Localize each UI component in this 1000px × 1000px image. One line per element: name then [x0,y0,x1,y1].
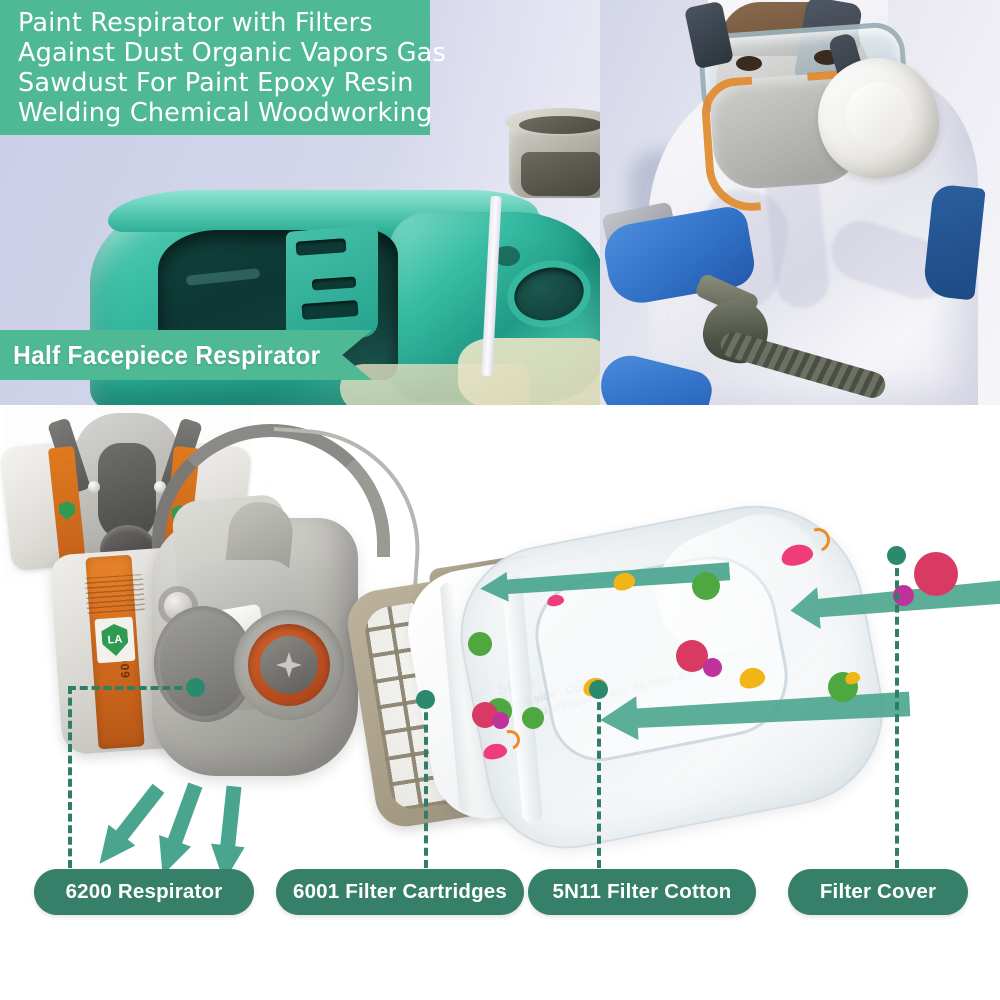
title-line-1: Paint Respirator with Filters [18,8,430,38]
half-facepiece-ribbon: Half Facepiece Respirator [0,330,372,380]
shield-text: LA [107,634,122,647]
cartridge-approval-badge: LA [95,617,136,664]
callout-pill-cartridges[interactable]: 6001 Filter Cartridges [276,869,524,915]
leader-line-cotton [597,690,601,868]
title-line-4: Welding Chemical Woodworking [18,98,430,128]
virus-icon [692,572,720,600]
callout-label-respirator: 6200 Respirator [66,880,223,904]
virus-icon-small [703,658,722,677]
leader-line-respirator-horizontal [68,686,194,690]
hero-photo-collage: Paint Respirator with Filters Against Du… [0,0,1000,405]
product-title-banner: Paint Respirator with Filters Against Du… [0,0,430,135]
leader-dot-cover [887,546,906,565]
leader-line-cartridges [424,700,428,868]
worker-eye [736,56,762,71]
virus-icon-large [914,552,958,596]
leader-dot-respirator [186,678,205,697]
title-line-3: Sawdust For Paint Epoxy Resin [18,68,430,98]
virus-icon [468,632,492,656]
virus-icon-small [492,712,509,729]
title-line-2: Against Dust Organic Vapors Gas [18,38,430,68]
paint-cup-shadow [521,152,601,196]
paint-cup-opening [519,116,603,134]
product-listing-image: Paint Respirator with Filters Against Du… [0,0,1000,1000]
worker-photo [600,0,1000,405]
ribbon-label: Half Facepiece Respirator [0,340,320,371]
approval-shield-icon: LA [101,623,129,657]
callout-pill-respirator[interactable]: 6200 Respirator [34,869,254,915]
leader-line-respirator [68,686,72,868]
leader-line-cover [895,556,899,868]
callout-pill-cover[interactable]: Filter Cover [788,869,968,915]
leader-dot-cotton [589,680,608,699]
virus-icon [522,707,544,729]
callout-pill-cotton[interactable]: 5N11 Filter Cotton [528,869,756,915]
callout-label-cover: Filter Cover [820,880,936,904]
callout-label-cotton: 5N11 Filter Cotton [552,880,731,904]
callout-label-cartridges: 6001 Filter Cartridges [293,880,507,904]
leader-dot-cartridges [416,690,435,709]
